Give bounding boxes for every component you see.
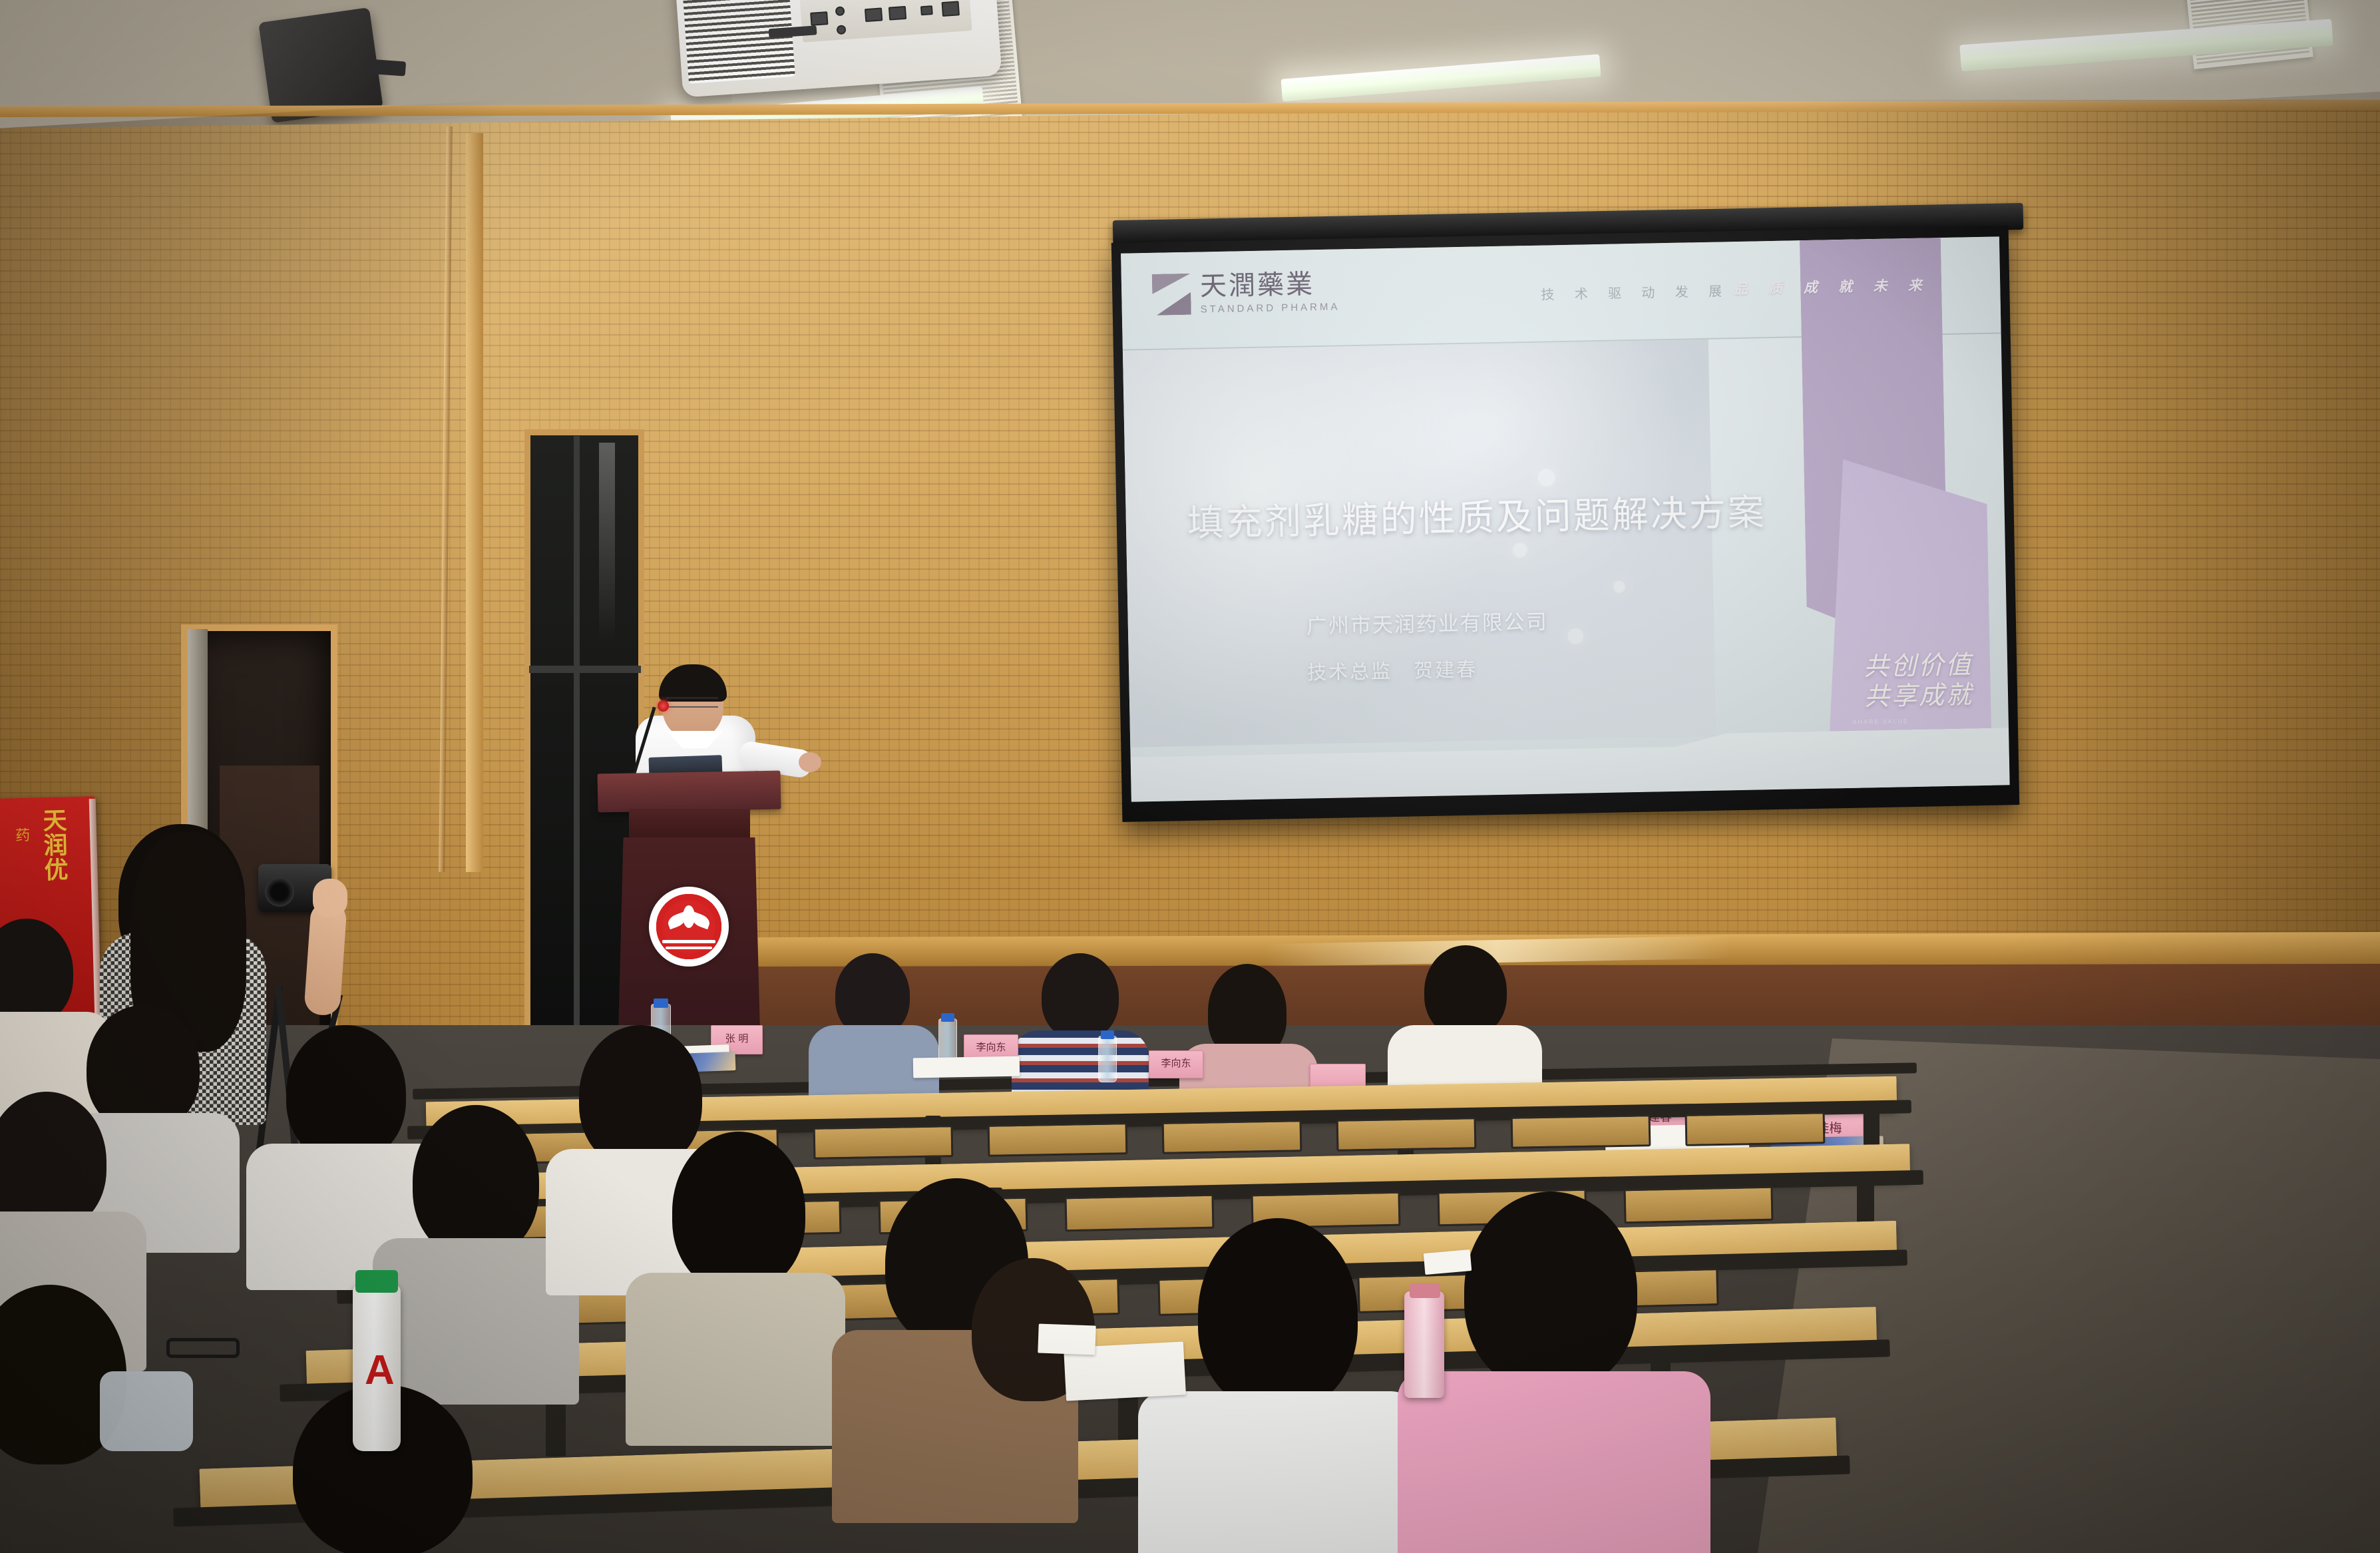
banner-text-secondary: 药 (2, 827, 29, 843)
presenter-hand (799, 752, 821, 772)
company-logo: 天潤藥業 STANDARD PHARMA (1152, 270, 1340, 316)
slide-title: 填充剂乳糖的性质及问题解决方案 (1187, 482, 1766, 547)
thermos-bottle (1404, 1291, 1444, 1398)
slide-calligraphy-subtext: SHARE VALUE (1852, 718, 1909, 726)
projector-port-rj45 (942, 1, 960, 17)
seat-back (1336, 1117, 1477, 1152)
bottle-cap (654, 998, 668, 1008)
bottle-cap (941, 1013, 954, 1022)
water-bottle (1098, 1036, 1117, 1082)
microphone-icon (658, 700, 669, 712)
audience-head (1424, 945, 1507, 1037)
presenter-glasses (666, 697, 718, 708)
emblem-book-bar (662, 940, 715, 943)
audience-torso (1138, 1391, 1418, 1553)
audience-head (413, 1105, 539, 1258)
projector-port-audio (835, 6, 845, 16)
slide-calligraphy-line1: 共创价值 (1830, 650, 1973, 682)
audience-head (579, 1025, 702, 1168)
yogurt-brand-letter: A (365, 1351, 391, 1394)
projector-port-usb (920, 5, 933, 15)
projection-screen: 天潤藥業 STANDARD PHARMA 技 术 驱 动 发 展 品 质 成 就… (1111, 226, 2019, 822)
projector-port-audio (837, 25, 847, 35)
seat-back (988, 1122, 1128, 1157)
seat-back (1511, 1114, 1651, 1149)
lecture-hall-photo: 天潤藥業 STANDARD PHARMA 技 术 驱 动 发 展 品 质 成 就… (0, 0, 2380, 1553)
window-mullion-vertical (574, 436, 580, 1025)
window-mullion-horizontal (529, 666, 641, 673)
slide-presenter-name: 技术总监 贺建春 (1307, 654, 1478, 686)
projector-port-panel (799, 0, 972, 43)
slide-surface: 天潤藥業 STANDARD PHARMA 技 术 驱 动 发 展 品 质 成 就… (1121, 236, 2010, 801)
paper-note (1038, 1324, 1095, 1355)
wall-panel-column (466, 133, 483, 872)
audience-torso (1398, 1371, 1710, 1553)
projector-port-hdmi (889, 6, 906, 21)
slide-tagline-right: 品 质 成 就 未 来 (1734, 274, 1930, 298)
slide-tagline-left: 技 术 驱 动 发 展 (1541, 280, 1730, 303)
logo-z-mark-icon (1152, 274, 1193, 316)
podium-neck (629, 809, 750, 841)
logo-chinese-name: 天潤藥業 (1200, 270, 1340, 300)
audience-head (1198, 1218, 1358, 1411)
emblem-book-bar (666, 947, 712, 949)
seat-back (1162, 1120, 1302, 1154)
projector-vent-grille (682, 0, 795, 84)
photographer-hand (313, 879, 347, 917)
paper-document (913, 1056, 1020, 1078)
audience-head (672, 1132, 805, 1291)
college-emblem-center (662, 900, 715, 953)
paper-note (1424, 1249, 1472, 1275)
lotus-center-icon (683, 905, 695, 928)
eyeglasses-icon (166, 1338, 240, 1358)
slide-company-name: 广州市天润药业有限公司 (1306, 605, 1548, 640)
yogurt-bottle-cap (355, 1270, 398, 1293)
audience-head (1464, 1192, 1637, 1391)
face-mask (100, 1371, 193, 1451)
audience-torso (626, 1273, 845, 1446)
banner-text-main: 天润优 (25, 807, 67, 883)
bottle-cap (1101, 1030, 1114, 1039)
slide-calligraphy-line2: 共享成就 (1830, 680, 1974, 712)
projector-port-vga (865, 7, 883, 22)
seat-back (1623, 1186, 1773, 1224)
seat-back (1685, 1112, 1826, 1146)
speaker-mount-arm (365, 59, 406, 76)
thermos-cap (1410, 1283, 1440, 1298)
audience-head (286, 1025, 406, 1162)
projector-port-lan (810, 11, 828, 26)
seat-back (1064, 1194, 1214, 1232)
audience-head (1042, 953, 1119, 1040)
window-glare (599, 443, 615, 642)
podium-top-surface (598, 771, 781, 813)
seat-back (813, 1125, 954, 1160)
slide-calligraphy: 共创价值 共享成就 (1830, 650, 1974, 712)
camera-lens-icon (265, 877, 294, 907)
name-card: 李向东 (1149, 1050, 1203, 1078)
